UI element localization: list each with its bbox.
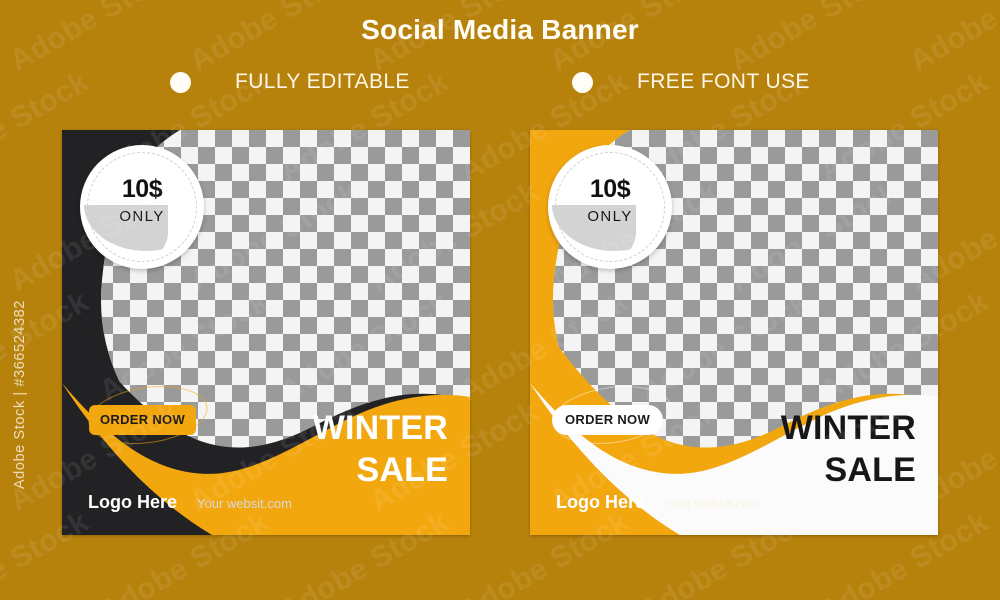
feature-free-font-use: FREE FONT USE [572,70,810,94]
order-now-button[interactable]: ORDER NOW [552,405,663,435]
banner-card-dark[interactable]: 10$ ONLY ORDER NOW WINTER SALE Logo Here… [62,130,470,535]
card-footer: Logo Here Your websit.com [556,492,760,513]
sale-headline: WINTER SALE [781,411,916,487]
sale-line-2: SALE [781,453,916,487]
banner-mockup-stage: Adobe StockAdobe StockAdobe StockAdobe S… [0,0,1000,600]
sticker-only: ONLY [119,209,164,224]
website-url: Your websit.com [665,496,760,511]
feature-label: FULLY EDITABLE [235,70,410,94]
sticker-price: 10$ [122,177,162,202]
banner-card-orange[interactable]: 10$ ONLY ORDER NOW WINTER SALE Logo Here… [530,130,938,535]
sticker-price: 10$ [590,177,630,202]
website-url: Your websit.com [197,496,292,511]
sale-headline: WINTER SALE [313,411,448,487]
sticker-text: 10$ ONLY [80,145,204,269]
sticker-text: 10$ ONLY [548,145,672,269]
feature-fully-editable: FULLY EDITABLE [170,70,410,94]
logo-placeholder: Logo Here [88,492,177,513]
watermark-text: Adobe Stock [994,285,1000,409]
watermark-text: Adobe Stock [0,175,5,299]
logo-placeholder: Logo Here [556,492,645,513]
price-sticker: 10$ ONLY [80,145,204,269]
adobe-stock-credit: Adobe Stock | #366524382 [12,300,28,489]
order-now-button[interactable]: ORDER NOW [89,405,196,435]
page-title: Social Media Banner [0,14,1000,46]
card-footer: Logo Here Your websit.com [88,492,292,513]
sale-line-1: WINTER [781,411,916,445]
watermark-text: Adobe Stock [0,395,5,519]
sale-line-1: WINTER [313,411,448,445]
price-sticker: 10$ ONLY [548,145,672,269]
sticker-only: ONLY [587,209,632,224]
watermark-text: Adobe Stock [994,65,1000,189]
feature-label: FREE FONT USE [637,70,810,94]
dot-icon [170,72,191,93]
dot-icon [572,72,593,93]
watermark-text: Adobe Stock [994,505,1000,600]
sale-line-2: SALE [313,453,448,487]
